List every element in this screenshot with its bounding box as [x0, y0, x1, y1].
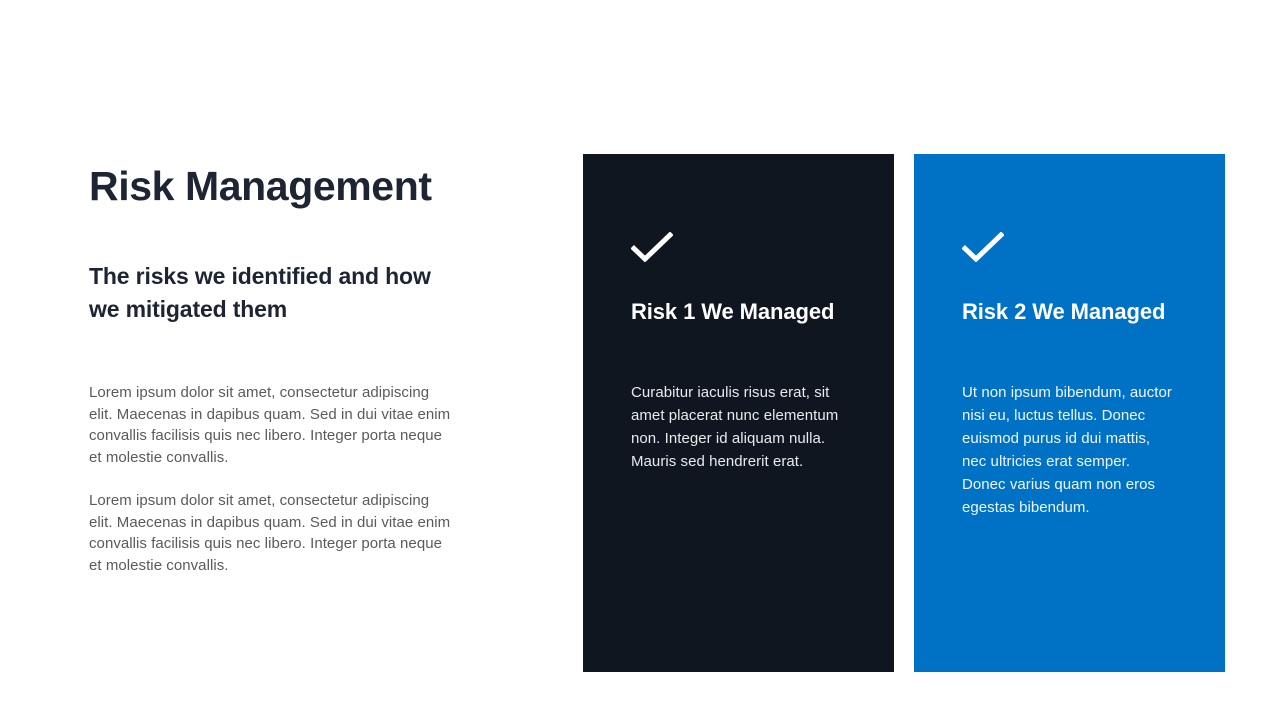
risk-card-1-body: Curabitur iaculis risus erat, sit amet p…: [631, 327, 846, 473]
body-paragraph-1: Lorem ipsum dolor sit amet, consectetur …: [89, 382, 453, 468]
slide-canvas: Risk Management The risks we identified …: [0, 0, 1280, 720]
risk-card-2-title: Risk 2 We Managed: [962, 298, 1177, 327]
page-title: Risk Management: [89, 164, 469, 210]
slide-subtitle: The risks we identified and how we mitig…: [89, 210, 434, 325]
left-content-column: Risk Management The risks we identified …: [89, 164, 469, 576]
risk-card-2[interactable]: Risk 2 We Managed Ut non ipsum bibendum,…: [914, 154, 1225, 672]
risk-card-1[interactable]: Risk 1 We Managed Curabitur iaculis risu…: [583, 154, 894, 672]
check-icon: [631, 232, 673, 262]
body-paragraph-2: Lorem ipsum dolor sit amet, consectetur …: [89, 490, 453, 576]
check-icon: [962, 232, 1004, 262]
risk-card-2-body: Ut non ipsum bibendum, auctor nisi eu, l…: [962, 327, 1177, 519]
body-paragraph-group: Lorem ipsum dolor sit amet, consectetur …: [89, 325, 469, 576]
risk-card-1-title: Risk 1 We Managed: [631, 298, 846, 327]
